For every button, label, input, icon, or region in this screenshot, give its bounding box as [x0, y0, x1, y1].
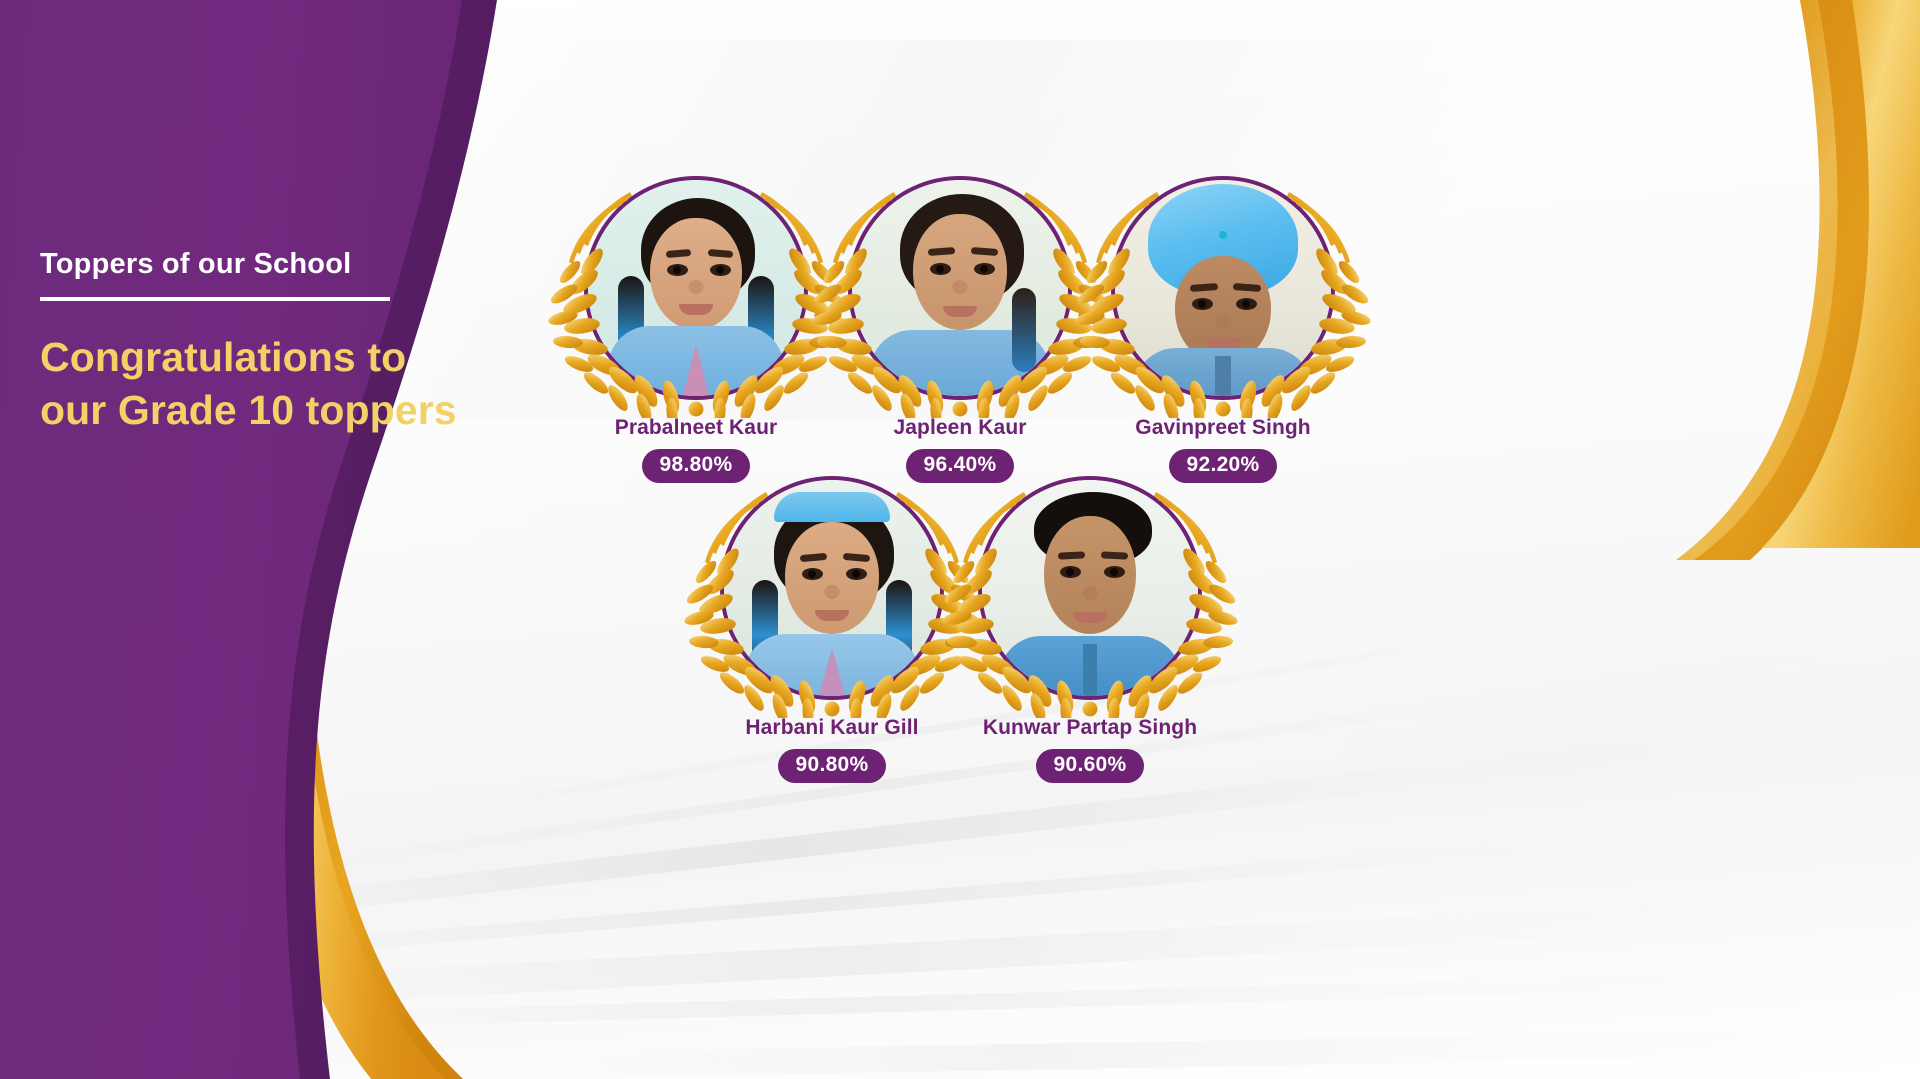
topper-name: Gavinpreet Singh: [1073, 416, 1373, 440]
topper-card[interactable]: Prabalneet Kaur 98.80%: [546, 168, 846, 483]
status-badge: 90.80%: [778, 749, 885, 783]
topper-card[interactable]: Harbani Kaur Gill 90.80%: [682, 468, 982, 783]
medal-frame: [1073, 168, 1373, 418]
avatar: [848, 176, 1072, 400]
medal-frame: [940, 468, 1240, 718]
medal-frame: [810, 168, 1110, 418]
medal-frame: [682, 468, 982, 718]
medal-frame: [546, 168, 846, 418]
portrait-japleen-kaur: [852, 180, 1068, 396]
portrait-gavinpreet-singh: [1115, 180, 1331, 396]
portrait-kunwar-partap-singh: [982, 480, 1198, 696]
topper-card[interactable]: Gavinpreet Singh 92.20%: [1073, 168, 1373, 483]
avatar: [584, 176, 808, 400]
toppers-grid: Prabalneet Kaur 98.80%: [0, 0, 1920, 1079]
status-badge: 90.60%: [1036, 749, 1143, 783]
portrait-harbani-kaur-gill: [724, 480, 940, 696]
avatar: [720, 476, 944, 700]
topper-card[interactable]: Japleen Kaur 96.40%: [810, 168, 1110, 483]
avatar: [1111, 176, 1335, 400]
topper-name: Harbani Kaur Gill: [682, 716, 982, 740]
topper-name: Japleen Kaur: [810, 416, 1110, 440]
slide-canvas: Toppers of our School Congratulations to…: [0, 0, 1920, 1079]
topper-name: Prabalneet Kaur: [546, 416, 846, 440]
avatar: [978, 476, 1202, 700]
portrait-prabalneet-kaur: [588, 180, 804, 396]
topper-card[interactable]: Kunwar Partap Singh 90.60%: [940, 468, 1240, 783]
topper-name: Kunwar Partap Singh: [940, 716, 1240, 740]
